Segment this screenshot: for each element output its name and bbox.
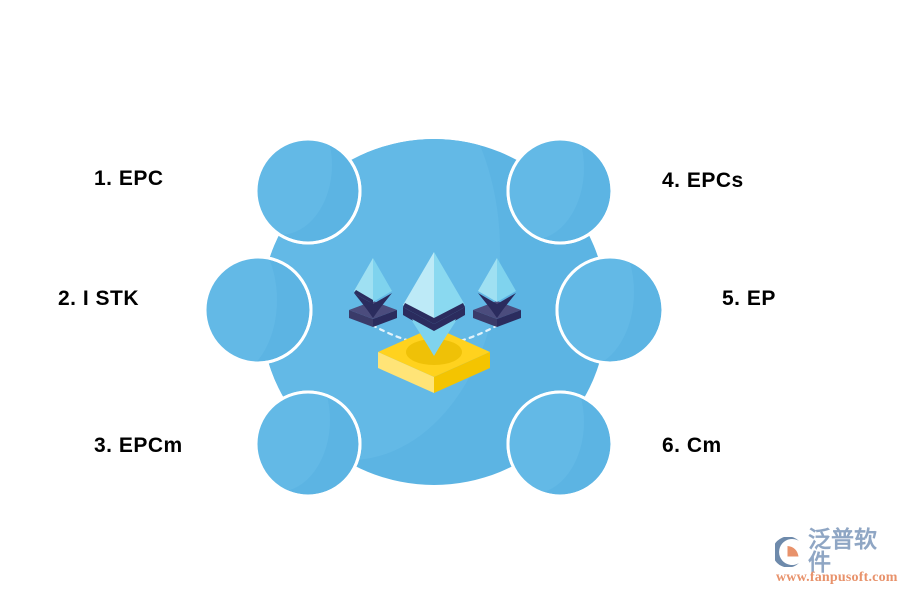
watermark-brand-cn: 泛普软件 xyxy=(808,529,895,575)
node-label-3: 3. EPCm xyxy=(94,435,183,456)
node-label-1: 1. EPC xyxy=(94,168,164,189)
node-label-4: 4. EPCs xyxy=(662,170,744,191)
watermark-brand-row: 泛普软件 xyxy=(775,535,895,569)
node-circle-1[interactable] xyxy=(228,95,360,243)
fanpu-swoosh-icon xyxy=(775,537,805,567)
node-label-6: 6. Cm xyxy=(662,435,722,456)
screenshot-canvas: 1. EPC 2. I STK 3. EPCm 4. EPCs 5. EP 6.… xyxy=(0,0,900,600)
node-label-5: 5. EP xyxy=(722,288,776,309)
watermark-url: www.fanpusoft.com xyxy=(776,570,895,586)
node-label-2: 2. I STK xyxy=(58,288,139,309)
watermark: 泛普软件 www.fanpusoft.com xyxy=(775,535,895,595)
